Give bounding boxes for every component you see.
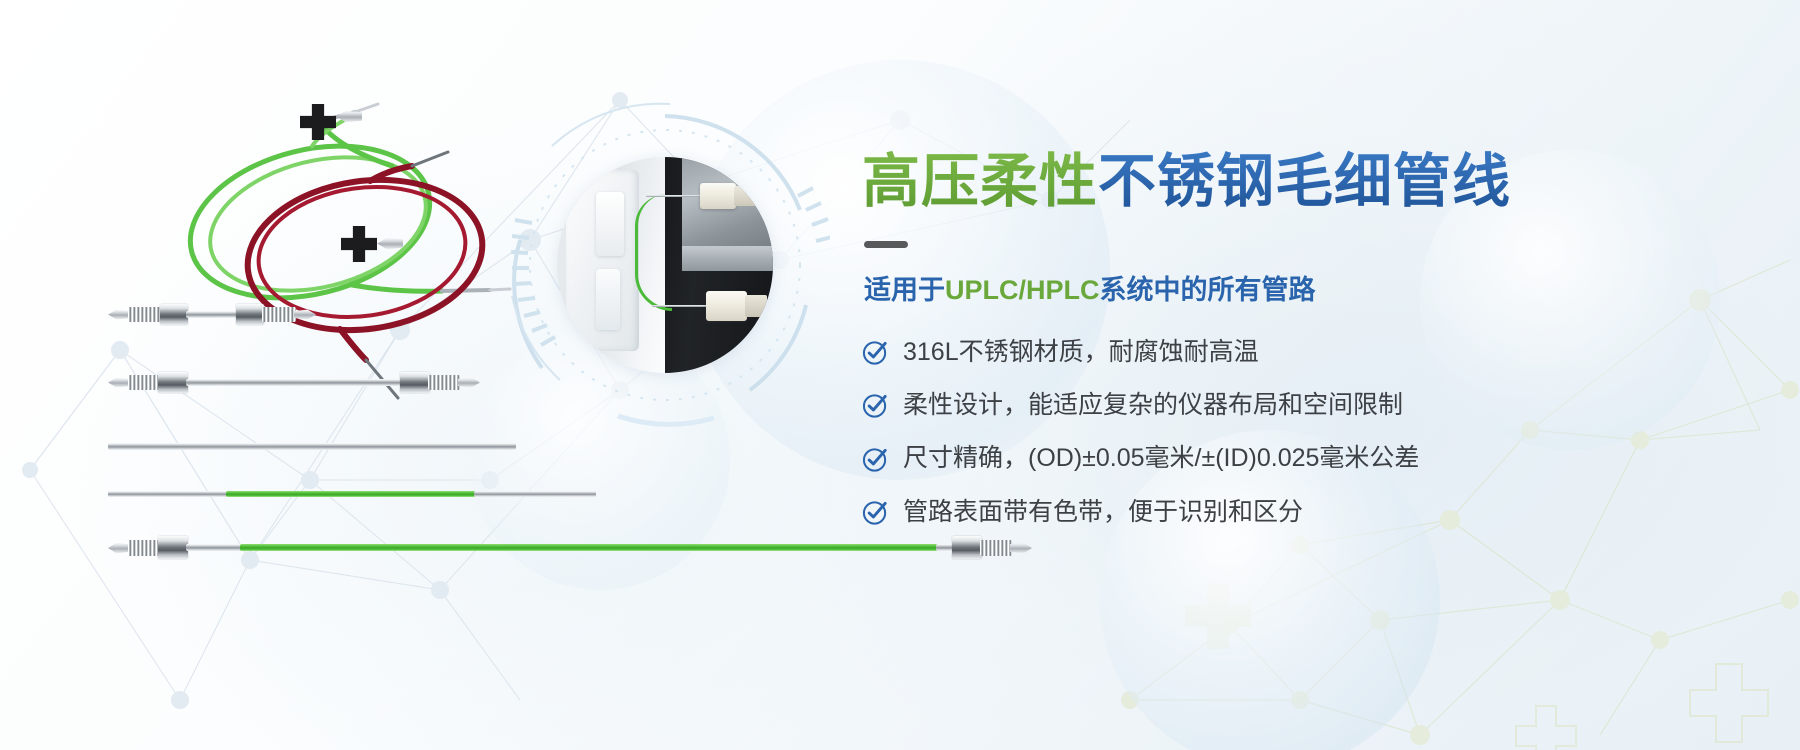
green-capillary-in-photo (635, 194, 673, 311)
list-item: 管路表面带有色带，便于识别和区分 (862, 497, 1682, 528)
feature-text: 尺寸精确，(OD)±0.05毫米/±(ID)0.025毫米公差 (903, 443, 1419, 474)
product-bare-steel-tube (108, 441, 516, 451)
fitting-upper (700, 183, 737, 209)
feature-text: 柔性设计，能适应复杂的仪器布局和空间限制 (903, 390, 1403, 421)
check-circle-icon (862, 339, 889, 366)
list-item: 柔性设计，能适应复杂的仪器布局和空间限制 (862, 390, 1682, 421)
title-green-part: 高压柔性 (862, 149, 1098, 214)
product-medium-assembly (108, 368, 478, 396)
subtitle-prefix: 适用于 (864, 275, 945, 305)
product-short-assembly (108, 300, 318, 328)
product-green-banded-capillary (108, 488, 598, 500)
title-divider (864, 241, 908, 248)
check-circle-icon (862, 446, 889, 473)
fitting-lower (706, 291, 747, 321)
check-circle-icon (862, 392, 889, 419)
page-title: 高压柔性不锈钢毛细管线 (862, 150, 1682, 215)
subtitle-suffix: 系统中的所有管路 (1100, 275, 1316, 305)
instrument-photo-circle (500, 100, 830, 430)
feature-text: 316L不锈钢材质，耐腐蚀耐高温 (903, 337, 1259, 368)
subtitle-highlight: UPLC/HPLC (945, 275, 1100, 305)
feature-text: 管路表面带有色带，便于识别和区分 (903, 497, 1303, 528)
banner-text-column: 高压柔性不锈钢毛细管线 适用于UPLC/HPLC系统中的所有管路 316L不锈钢… (862, 150, 1682, 550)
list-item: 316L不锈钢材质，耐腐蚀耐高温 (862, 337, 1682, 368)
page-subtitle: 适用于UPLC/HPLC系统中的所有管路 (864, 268, 1682, 307)
check-circle-icon (862, 499, 889, 526)
capillary-instrument-photo (557, 157, 773, 373)
title-blue-part: 不锈钢毛细管线 (1098, 149, 1511, 214)
list-item: 尺寸精确，(OD)±0.05毫米/±(ID)0.025毫米公差 (862, 443, 1682, 474)
feature-list: 316L不锈钢材质，耐腐蚀耐高温 柔性设计，能适应复杂的仪器布局和空间限制 (862, 337, 1682, 528)
product-banner: 高压柔性不锈钢毛细管线 适用于UPLC/HPLC系统中的所有管路 316L不锈钢… (0, 0, 1800, 750)
